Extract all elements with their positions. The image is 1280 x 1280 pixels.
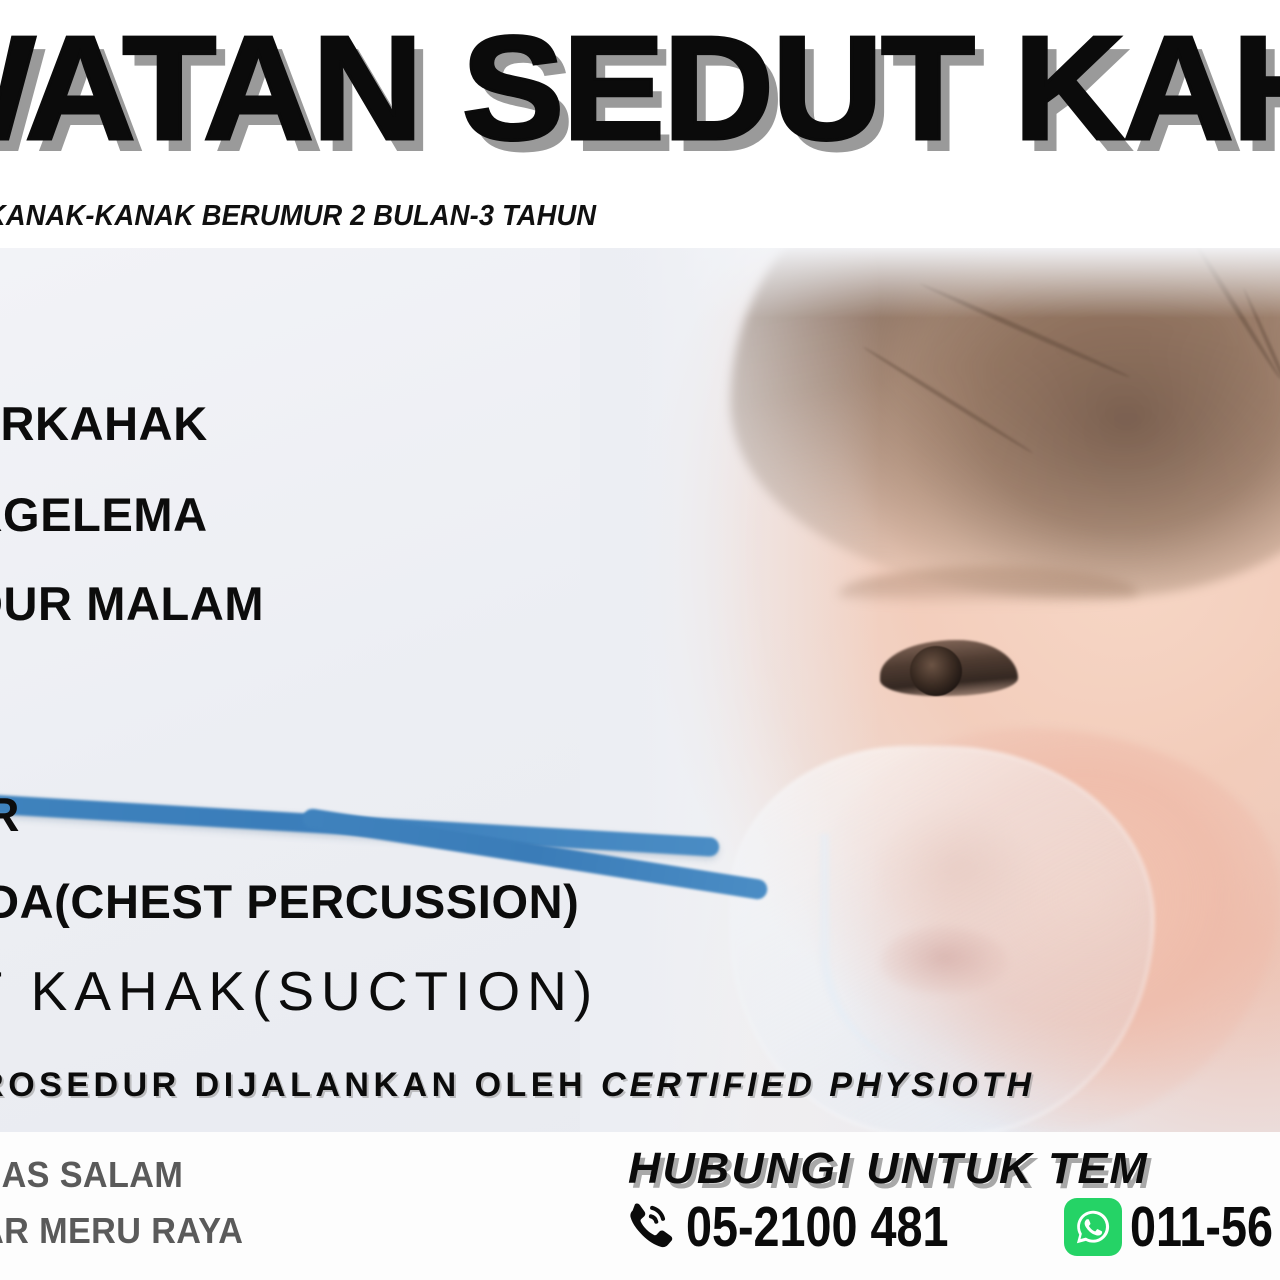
certification-note-prefix: PROSEDUR DIJALANKAN OLEH bbox=[0, 1066, 601, 1104]
header-band: WATAN SEDUT KAHA KANAK-KANAK BERUMUR 2 B… bbox=[0, 0, 1280, 248]
list-item: DADA(CHEST PERCUSSION) bbox=[0, 878, 579, 925]
phone-number: 05-2100 481 bbox=[686, 1199, 949, 1256]
certification-note-emphasis: CERTIFIED PHYSIOTH bbox=[601, 1066, 1035, 1104]
whatsapp-icon bbox=[1064, 1198, 1122, 1256]
phone-icon bbox=[620, 1198, 678, 1256]
phone-contact[interactable]: 05-2100 481 bbox=[620, 1198, 1006, 1256]
poster-subtitle: KANAK-KANAK BERUMUR 2 BULAN-3 TAHUN bbox=[0, 200, 596, 233]
list-item: TIDUR MALAM bbox=[0, 580, 264, 627]
clinic-name: IK AS SALAM bbox=[0, 1154, 183, 1196]
body-area: OM: BERKAHAK BERGELEMA TIDUR MALAM DUR: … bbox=[0, 248, 1280, 1132]
whatsapp-contact[interactable]: 011-56 bbox=[1064, 1198, 1280, 1256]
list-item: UT KAHAK(SUCTION) bbox=[0, 964, 599, 1019]
list-item: ISER bbox=[0, 791, 20, 838]
list-item: BERKAHAK bbox=[0, 400, 208, 447]
clinic-address: DAR MERU RAYA bbox=[0, 1210, 243, 1252]
contact-row: 05-2100 481 011-56 bbox=[620, 1198, 1280, 1256]
text-content: OM: BERKAHAK BERGELEMA TIDUR MALAM DUR: … bbox=[0, 248, 1280, 1132]
poster-root: WATAN SEDUT KAHA KANAK-KANAK BERUMUR 2 B… bbox=[0, 0, 1280, 1280]
list-item: BERGELEMA bbox=[0, 491, 208, 538]
footer-band: IK AS SALAM DAR MERU RAYA HUBUNGI UNTUK … bbox=[0, 1132, 1280, 1280]
cta-text: HUBUNGI UNTUK TEM bbox=[628, 1144, 1149, 1194]
whatsapp-number: 011-56 bbox=[1130, 1199, 1273, 1256]
certification-note: PROSEDUR DIJALANKAN OLEH CERTIFIED PHYSI… bbox=[0, 1066, 1035, 1105]
poster-title: WATAN SEDUT KAHA bbox=[0, 6, 1280, 172]
whatsapp-glyph bbox=[1071, 1205, 1115, 1249]
